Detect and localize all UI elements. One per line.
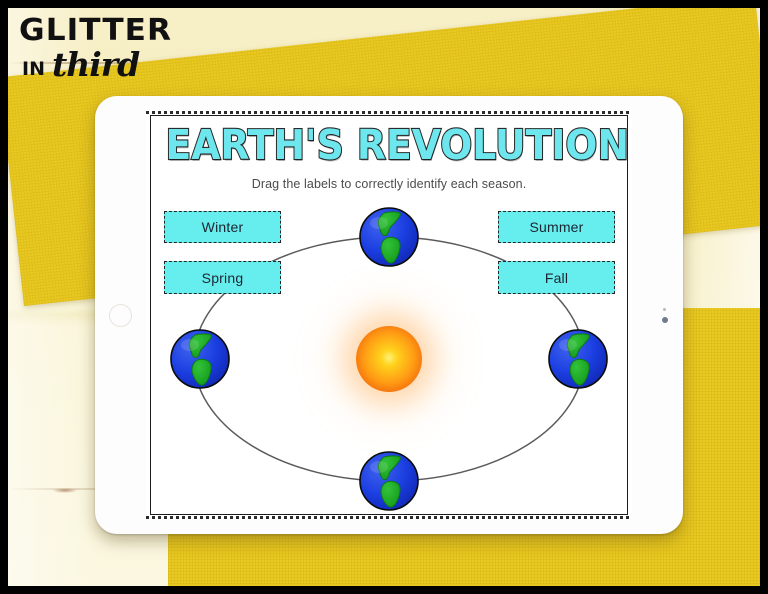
worksheet-bottom-dotted-rule (146, 516, 632, 519)
label-chip-summer-text: Summer (529, 219, 583, 235)
earth-top[interactable] (357, 205, 421, 269)
earth-globe-icon (546, 327, 610, 391)
wood-knot (52, 488, 78, 493)
label-chip-fall[interactable]: Fall (498, 261, 615, 294)
label-chip-winter-text: Winter (202, 219, 244, 235)
sensor-dot-icon (663, 308, 666, 311)
worksheet-screen[interactable]: EARTH'S REVOLUTION Drag the labels to co… (146, 111, 632, 519)
front-camera (660, 303, 669, 327)
earth-bottom[interactable] (357, 449, 421, 513)
earth-globe-icon (357, 449, 421, 513)
brand-logo-third: third (52, 51, 139, 79)
worksheet-title: EARTH'S REVOLUTION (165, 125, 612, 166)
earth-revolution-diagram: Winter Spring Summer Fall (146, 193, 632, 515)
ipad-tablet: EARTH'S REVOLUTION Drag the labels to co… (95, 96, 683, 534)
home-button[interactable] (109, 304, 132, 327)
brand-logo-glitter: GLITTER (19, 16, 172, 46)
earth-globe-icon (357, 205, 421, 269)
worksheet-top-dotted-rule (146, 111, 632, 114)
sun (356, 326, 422, 392)
label-chip-fall-text: Fall (545, 270, 568, 286)
label-chip-summer[interactable]: Summer (498, 211, 615, 243)
brand-logo-in: IN (22, 60, 45, 79)
earth-left[interactable] (168, 327, 232, 391)
scene-stage: GLITTER IN third EARTH'S REVOLUTION Drag… (8, 8, 760, 586)
worksheet-instructions: Drag the labels to correctly identify ea… (146, 177, 632, 191)
earth-globe-icon (168, 327, 232, 391)
label-chip-spring[interactable]: Spring (164, 261, 281, 294)
earth-right[interactable] (546, 327, 610, 391)
brand-logo: GLITTER IN third (22, 16, 169, 79)
label-chip-winter[interactable]: Winter (164, 211, 281, 243)
label-chip-spring-text: Spring (202, 270, 244, 286)
camera-lens-icon (662, 317, 668, 323)
